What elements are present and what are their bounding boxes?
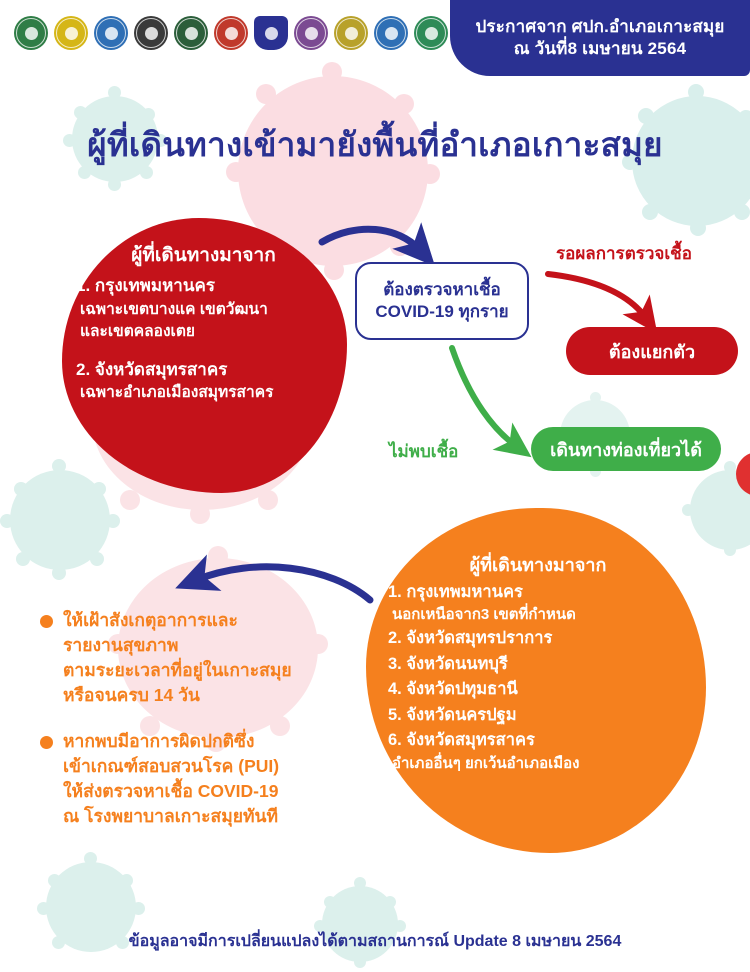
decision-line-1: ต้องตรวจหาเชื้อ [383,279,501,301]
note-1-line-1: ให้เฝ้าสังเกตุอาการและ [63,608,292,633]
agency-logo-strip [14,16,488,50]
orange-item-1-name: กรุงเทพมหานคร [406,583,523,601]
note-2-line-1: หากพบมีอาการผิดปกติซึ่ง [63,729,279,754]
tourism-authority-logo [294,16,328,50]
orange-group-item-6: 6. จังหวัดสมุทรสาคร [388,729,688,752]
arrow-red-to-decision [322,229,420,250]
decision-line-2: COVID-19 ทุกราย [375,301,508,323]
orange-item-6-detail: อำเภออื่นๆ ยกเว้นอำเภอเมือง [388,753,688,774]
orange-item-6-number: 6. [388,731,402,749]
arrow-orange-to-notes [196,567,370,600]
marine-department-logo [374,16,408,50]
covid-test-decision-box: ต้องตรวจหาเชื้อ COVID-19 ทุกราย [355,262,529,340]
header-line-2: ณ วันที่8 เมษายน 2564 [514,38,687,60]
orange-item-1-number: 1. [388,583,402,601]
red-travelers-group: ผู้ที่เดินทางมาจาก 1. กรุงเทพมหานคร เฉพา… [62,218,347,493]
koh-samui-municipality-logo [94,16,128,50]
announcement-header-badge: ประกาศจาก ศปก.อำเภอเกาะสมุย ณ วันที่8 เม… [450,0,750,76]
note-item-1: ให้เฝ้าสังเกตุอาการและ รายงานสุขภาพ ตามร… [40,608,360,707]
note-1-line-3: ตามระยะเวลาที่อยู่ในเกาะสมุย [63,658,292,683]
red-group-item-1: 1. กรุงเทพมหานคร [76,274,331,299]
ministry-of-public-health-logo [14,16,48,50]
orange-item-5-number: 5. [388,706,402,724]
waiting-result-label: รอผลการตรวจเชื้อ [556,240,692,267]
instruction-notes-list: ให้เฝ้าสังเกตุอาการและ รายงานสุขภาพ ตามร… [40,608,360,851]
orange-item-5-name: จังหวัดนครปฐม [406,706,516,724]
note-2-line-4: ณ โรงพยาบาลเกาะสมุยทันที [63,804,279,829]
red-item-2-detail-1: เฉพาะอำเภอเมืองสมุทรสาคร [76,382,331,404]
red-item-1-name: กรุงเทพมหานคร [95,276,215,295]
virus-graphic-mint-rightlower [690,470,750,550]
bullet-dot-icon [40,736,53,749]
red-item-1-detail-2: และเขตคลองเตย [76,321,331,343]
local-administration-logo [134,16,168,50]
arrow-decision-to-travel [452,348,516,446]
red-group-item-2: 2. จังหวัดสมุทรสาคร [76,358,331,383]
isolate-outcome-pill: ต้องแยกตัว [566,327,738,375]
red-item-2-number: 2. [76,360,90,379]
navy-command-logo [254,16,288,50]
orange-item-2-name: จังหวัดสมุทรปราการ [406,629,552,647]
note-2-line-3: ให้ส่งตรวจหาเชื้อ COVID-19 [63,779,279,804]
orange-item-3-name: จังหวัดนนทบุรี [406,655,507,673]
note-2-line-2: เข้าเกณฑ์สอบสวนโรค (PUI) [63,754,279,779]
orange-item-4-name: จังหวัดปทุมธานี [406,680,517,698]
orange-group-heading: ผู้ที่เดินทางมาจาก [388,550,688,579]
samui-tourism-association-logo [414,16,448,50]
note-item-2: หากพบมีอาการผิดปกติซึ่ง เข้าเกณฑ์สอบสวนโ… [40,729,360,828]
red-group-heading: ผู้ที่เดินทางมาจาก [76,240,331,270]
virus-graphic-red-rightedge [736,452,750,496]
surat-thani-province-logo [54,16,88,50]
orange-travelers-group: ผู้ที่เดินทางมาจาก 1. กรุงเทพมหานคร นอกเ… [366,508,706,853]
orange-group-item-5: 5. จังหวัดนครปฐม [388,704,688,727]
orange-item-2-number: 2. [388,629,402,647]
bullet-dot-icon [40,615,53,628]
note-2-text: หากพบมีอาการผิดปกติซึ่ง เข้าเกณฑ์สอบสวนโ… [63,729,279,828]
orange-item-4-number: 4. [388,680,402,698]
red-item-2-name: จังหวัดสมุทรสาคร [95,360,227,379]
note-1-text: ให้เฝ้าสังเกตุอาการและ รายงานสุขภาพ ตามร… [63,608,292,707]
disaster-prevention-logo [214,16,248,50]
page-title: ผู้ที่เดินทางเข้ามายังพื้นที่อำเภอเกาะสม… [0,118,750,171]
red-item-1-number: 1. [76,276,90,295]
note-1-line-4: หรือจนครบ 14 วัน [63,683,292,708]
orange-group-item-3: 3. จังหวัดนนทบุรี [388,653,688,676]
travel-allowed-outcome-pill: เดินทางท่องเที่ยวได้ [531,427,721,471]
header-line-1: ประกาศจาก ศปก.อำเภอเกาะสมุย [475,16,724,38]
infographic-poster: ประกาศจาก ศปก.อำเภอเกาะสมุย ณ วันที่8 เม… [0,0,750,972]
virus-graphic-mint-midleft [10,470,110,570]
footer-update-note: ข้อมูลอาจมีการเปลี่ยนแปลงได้ตามสถานการณ์… [0,929,750,954]
orange-item-3-number: 3. [388,655,402,673]
negative-result-label: ไม่พบเชื้อ [389,438,458,465]
note-1-line-2: รายงานสุขภาพ [63,633,292,658]
provincial-police-logo [174,16,208,50]
orange-item-6-name: จังหวัดสมุทรสาคร [406,731,535,749]
orange-item-1-detail: นอกเหนือจาก3 เขตที่กำหนด [388,604,688,625]
red-item-1-detail-1: เฉพาะเขตบางแค เขตวัฒนา [76,299,331,321]
orange-group-item-4: 4. จังหวัดปทุมธานี [388,678,688,701]
arrow-decision-to-isolate [548,274,646,318]
orange-group-item-2: 2. จังหวัดสมุทรปราการ [388,627,688,650]
orange-group-item-1: 1. กรุงเทพมหานคร [388,581,688,604]
district-office-logo [334,16,368,50]
